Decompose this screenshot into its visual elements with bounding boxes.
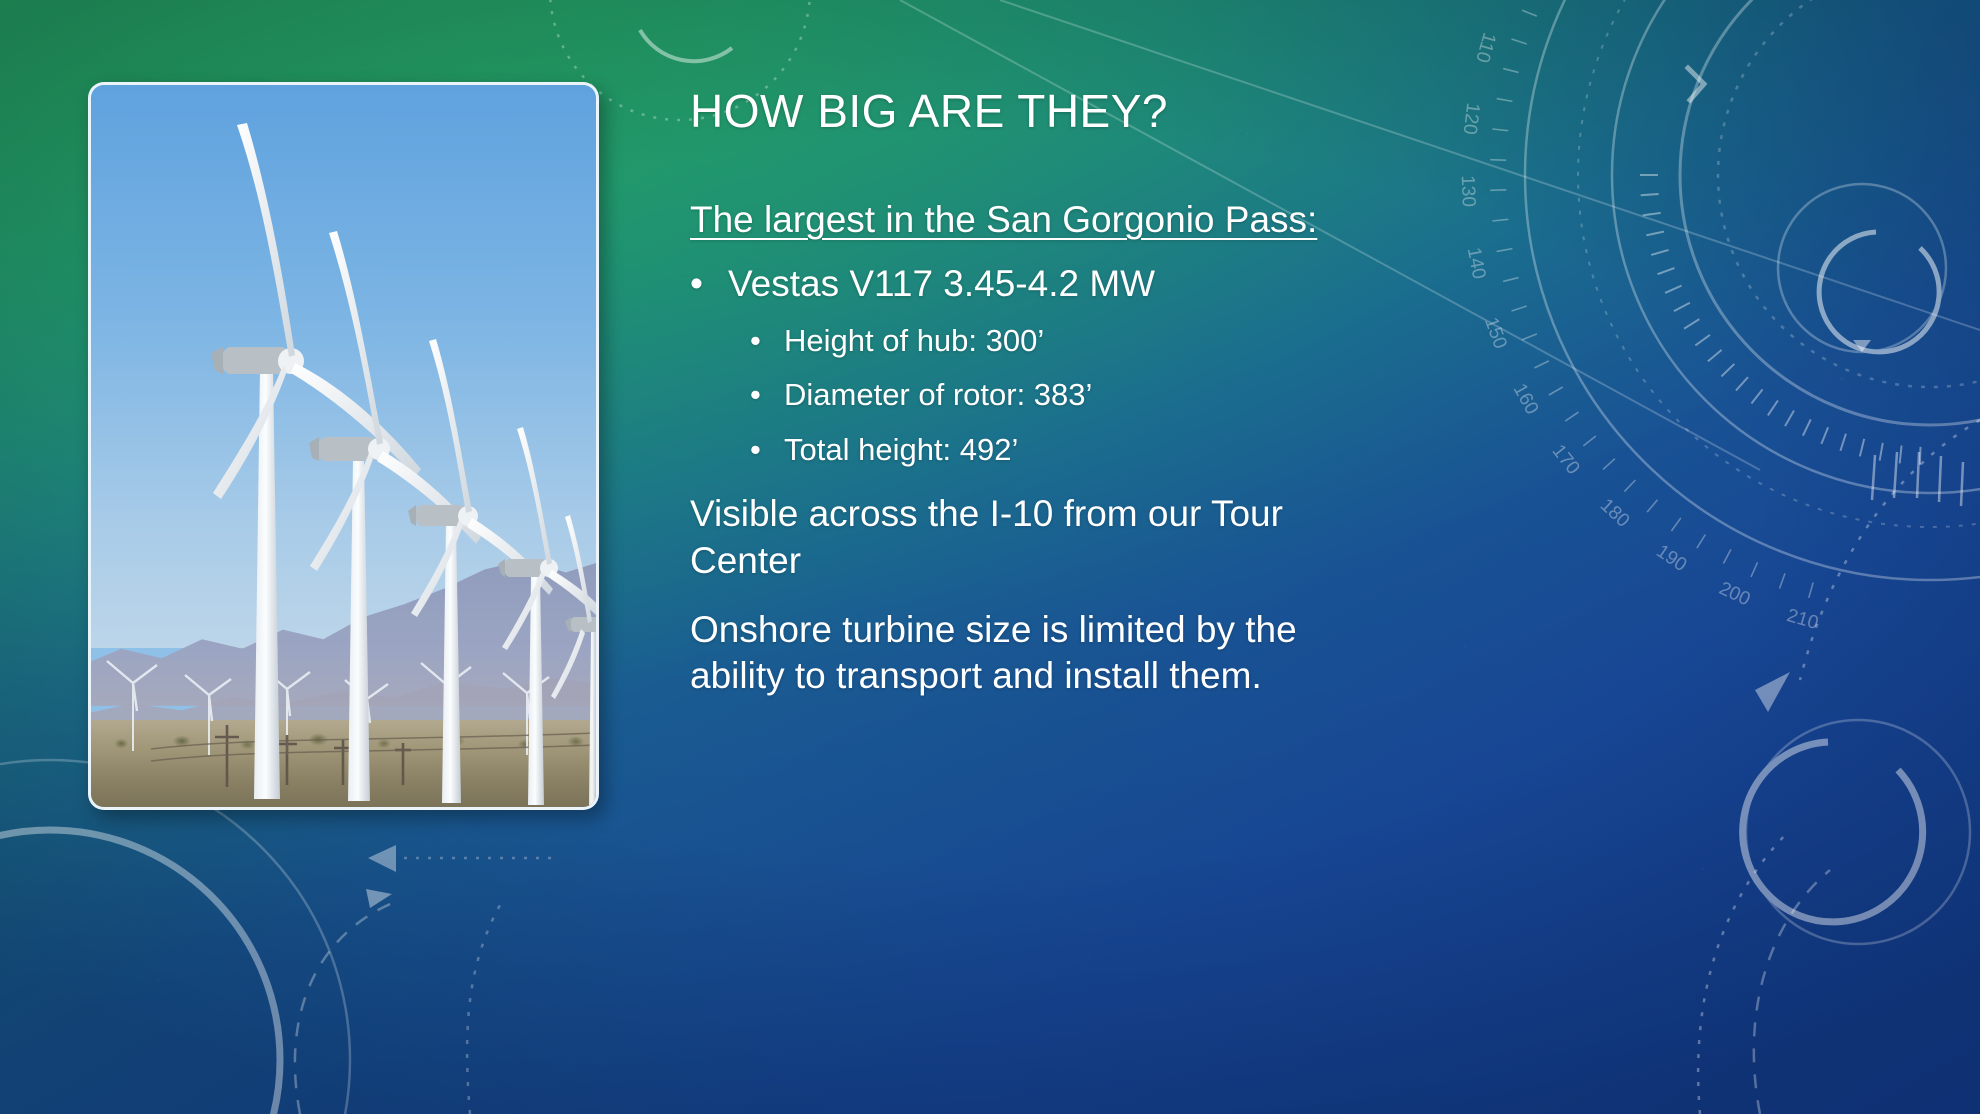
list-item-label: Total height: 492’: [784, 431, 1018, 469]
bullet-dot-icon: •: [690, 261, 728, 308]
slide-body: The largest in the San Gorgonio Pass: • …: [690, 196, 1400, 700]
photo-turbines: [91, 85, 596, 807]
body-paragraph-visibility: Visible across the I-10 from our Tour Ce…: [690, 491, 1400, 584]
bullet-dot-icon: •: [750, 322, 784, 360]
list-item-label: Height of hub: 300’: [784, 322, 1044, 360]
sub-list: • Height of hub: 300’ • Diameter of roto…: [690, 322, 1400, 469]
body-paragraph-transport: Onshore turbine size is limited by the a…: [690, 607, 1400, 700]
body-lead-heading: The largest in the San Gorgonio Pass:: [690, 196, 1400, 243]
presentation-slide: 210 200 190 180 170 160 150 140 130 120 …: [0, 0, 1980, 1114]
list-item-label: Vestas V117 3.45-4.2 MW: [728, 261, 1155, 308]
photo-content: [91, 85, 596, 807]
bullet-dot-icon: •: [750, 376, 784, 414]
list-item: • Height of hub: 300’: [750, 322, 1400, 360]
bullet-dot-icon: •: [750, 431, 784, 469]
list-item: • Diameter of rotor: 383’: [750, 376, 1400, 414]
list-item: • Total height: 492’: [750, 431, 1400, 469]
list-item: • Vestas V117 3.45-4.2 MW: [690, 261, 1400, 308]
wind-turbine-photo: [88, 82, 599, 810]
list-item-label: Diameter of rotor: 383’: [784, 376, 1092, 414]
page-title: HOW BIG ARE THEY?: [690, 86, 1590, 137]
